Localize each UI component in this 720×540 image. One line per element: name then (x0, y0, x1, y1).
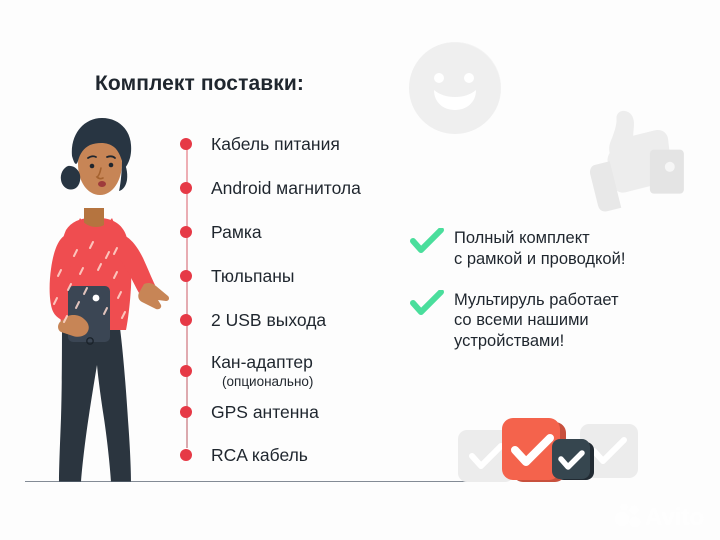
list-item: 2 USB выхода (180, 310, 326, 331)
woman-pointing-with-tablet-illustration (18, 108, 178, 486)
list-item-label: 2 USB выхода (211, 310, 326, 331)
package-contents-list: Кабель питания Android магнитола Рамка Т… (180, 134, 430, 454)
list-item-label: Кан-адаптер (опционально) (211, 352, 313, 390)
list-item: Кабель питания (180, 134, 340, 155)
poster-canvas: Комплект поставки: Кабель питания Androi… (0, 0, 720, 540)
green-check-icon (410, 290, 444, 318)
list-item: Рамка (180, 222, 262, 243)
feature-text: Мультируль работает со всеми нашими устр… (454, 291, 619, 351)
list-item-label: GPS антенна (211, 402, 319, 423)
list-item-label: Рамка (211, 222, 262, 243)
bullet-dot-icon (180, 138, 192, 150)
list-item: Кан-адаптер (опционально) (180, 352, 313, 390)
checkbox-card-dark (552, 439, 590, 479)
bullet-dot-icon (180, 182, 192, 194)
avito-watermark: Avito (614, 500, 710, 530)
bullet-dot-icon (180, 226, 192, 238)
list-item-label: Кабель питания (211, 134, 340, 155)
list-item-label: RCA кабель (211, 445, 308, 466)
list-item: Тюльпаны (180, 266, 294, 287)
feature-item: Мультируль работает со всеми нашими устр… (410, 290, 710, 352)
feature-text: Полный комплект с рамкой и проводкой! (454, 229, 625, 268)
list-item: GPS антенна (180, 402, 319, 423)
smiley-face-icon (403, 36, 507, 140)
list-item-label: Android магнитола (211, 178, 361, 199)
thumbs-up-icon (572, 104, 690, 216)
list-item-main-text: Кан-адаптер (211, 352, 313, 372)
list-item: Android магнитола (180, 178, 361, 199)
ground-line (25, 481, 467, 482)
svg-text:Avito: Avito (645, 504, 704, 530)
bullet-dot-icon (180, 365, 192, 377)
list-item-sub-text: (опционально) (222, 374, 313, 390)
page-title: Комплект поставки: (95, 72, 304, 96)
list-item-label: Тюльпаны (211, 266, 294, 287)
bullet-dot-icon (180, 449, 192, 461)
bullet-dot-icon (180, 314, 192, 326)
bullet-dot-icon (180, 270, 192, 282)
bullet-dot-icon (180, 406, 192, 418)
feature-item: Полный комплект с рамкой и проводкой! (410, 228, 710, 270)
feature-highlights: Полный комплект с рамкой и проводкой! Му… (410, 228, 710, 368)
list-item: RCA кабель (180, 445, 308, 466)
green-check-icon (410, 228, 444, 256)
checkbox-card-cluster (458, 414, 638, 486)
